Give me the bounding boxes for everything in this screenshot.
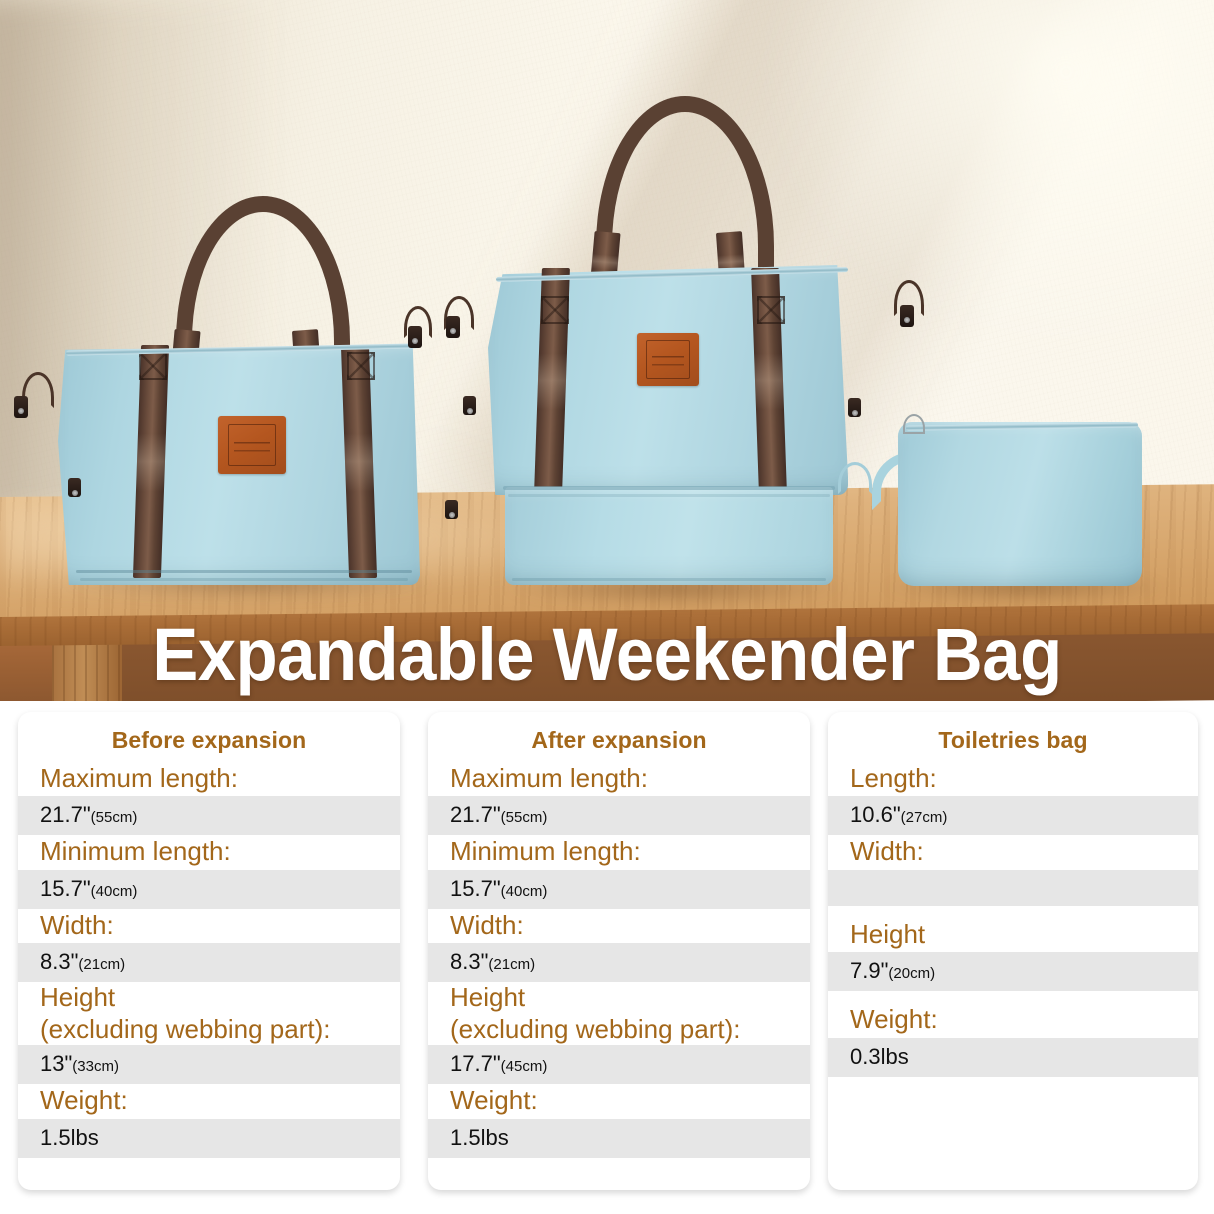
spec-value-in: 21.7": [450, 802, 501, 827]
page-title: Expandable Weekender Bag: [42, 612, 1171, 697]
side-tab-left: [14, 396, 28, 418]
side-tab2-right: [900, 305, 914, 327]
spec-label: Width:: [18, 909, 400, 943]
spec-value-cm: (27cm): [901, 809, 948, 826]
strap2-stitch-left: [541, 296, 569, 324]
spec-value-in: 21.7": [40, 802, 91, 827]
spec-label: Length:: [828, 762, 1198, 796]
spec-label: Weight:: [18, 1084, 400, 1118]
spec-card-title: Before expansion: [18, 712, 400, 762]
spec-value-in: 8.3": [450, 949, 488, 974]
spec-value-in: 15.7": [450, 876, 501, 901]
spec-value: 7.9"(20cm): [828, 952, 1198, 991]
spec-value: 21.7"(55cm): [18, 796, 400, 835]
spec-value-cm: (40cm): [91, 883, 138, 900]
spec-value-cm: (55cm): [501, 809, 548, 826]
spec-value-in: 15.7": [40, 876, 91, 901]
spec-value: 10.6"(27cm): [828, 796, 1198, 835]
expansion-seam-bottom: [512, 578, 826, 581]
spec-value-in: 7.9": [850, 958, 888, 983]
side-tab-right: [408, 326, 422, 348]
side-tab2-left: [446, 316, 460, 338]
base-tab-right: [445, 500, 458, 519]
spec-value-in: 1.5lbs: [450, 1125, 509, 1150]
spec-value: 21.7"(55cm): [428, 796, 810, 835]
spec-label-secondline: (excluding webbing part):: [18, 1014, 400, 1046]
mid-tab2-right: [848, 398, 861, 417]
spec-value-cm: (40cm): [501, 883, 548, 900]
spec-card-title: Toiletries bag: [828, 712, 1198, 762]
spec-value: 13"(33cm): [18, 1045, 400, 1084]
strap-stitch-right: [347, 352, 375, 380]
pouch-body: [898, 422, 1142, 586]
spec-card-title: After expansion: [428, 712, 810, 762]
spec-value: 1.5lbs: [428, 1119, 810, 1158]
spec-value: 8.3"(21cm): [428, 943, 810, 982]
spec-value-in: 10.6": [850, 802, 901, 827]
spec-value-in: 13": [40, 1051, 72, 1076]
strap-stitch-left: [139, 352, 167, 380]
spec-label: Height: [18, 982, 400, 1014]
spec-label-secondline: (excluding webbing part):: [428, 1014, 810, 1046]
bottom-seam-2: [80, 578, 408, 581]
leather-logo-patch-2: [637, 333, 699, 386]
expansion-seam-top: [508, 494, 830, 497]
pouch-zipper-pull: [903, 414, 925, 434]
bottom-seam: [76, 570, 412, 573]
spec-label: Height: [428, 982, 810, 1014]
spec-card-toiletries-bag: Toiletries bag Length: 10.6"(27cm) Width…: [828, 712, 1198, 1190]
spec-label: Minimum length:: [428, 835, 810, 869]
base-tab-left: [68, 478, 81, 497]
spec-label: Width:: [828, 835, 1198, 869]
spec-value: 0.3lbs: [828, 1038, 1198, 1077]
spec-label: Weight:: [828, 1003, 1198, 1037]
spec-value-empty: [828, 870, 1198, 906]
leather-logo-patch: [218, 416, 286, 474]
spec-value-in: 1.5lbs: [40, 1125, 99, 1150]
spec-label: Maximum length:: [428, 762, 810, 796]
spec-value: 1.5lbs: [18, 1119, 400, 1158]
spec-label: Height: [828, 918, 1198, 952]
spec-value: 8.3"(21cm): [18, 943, 400, 982]
spec-card-after-expansion: After expansion Maximum length: 21.7"(55…: [428, 712, 810, 1190]
spec-value: 15.7"(40cm): [18, 870, 400, 909]
mid-tab2-left: [463, 396, 476, 415]
spec-value-cm: (21cm): [488, 956, 535, 973]
specifications-section: Before expansion Maximum length: 21.7"(5…: [0, 701, 1214, 1214]
spec-value-cm: (21cm): [78, 956, 125, 973]
spec-label: Maximum length:: [18, 762, 400, 796]
row-spacer: [828, 906, 1198, 918]
strap2-stitch-right: [757, 296, 785, 324]
spec-value-in: 8.3": [40, 949, 78, 974]
spec-value-cm: (55cm): [91, 809, 138, 826]
spec-value: 15.7"(40cm): [428, 870, 810, 909]
spec-value-in: 0.3lbs: [850, 1044, 909, 1069]
product-photo: Expandable Weekender Bag: [0, 0, 1214, 701]
spec-card-before-expansion: Before expansion Maximum length: 21.7"(5…: [18, 712, 400, 1190]
spec-value-cm: (33cm): [72, 1058, 119, 1075]
product-infographic: Expandable Weekender Bag Before expansio…: [0, 0, 1214, 1214]
spec-value: 17.7"(45cm): [428, 1045, 810, 1084]
spec-label: Weight:: [428, 1084, 810, 1118]
spec-label: Minimum length:: [18, 835, 400, 869]
spec-value-cm: (20cm): [888, 965, 935, 982]
row-spacer: [828, 991, 1198, 1003]
bag2-expansion-section: [505, 487, 833, 585]
spec-label: Width:: [428, 909, 810, 943]
expansion-zipper-seam: [503, 486, 835, 490]
spec-value-in: 17.7": [450, 1051, 501, 1076]
spec-value-cm: (45cm): [501, 1058, 548, 1075]
